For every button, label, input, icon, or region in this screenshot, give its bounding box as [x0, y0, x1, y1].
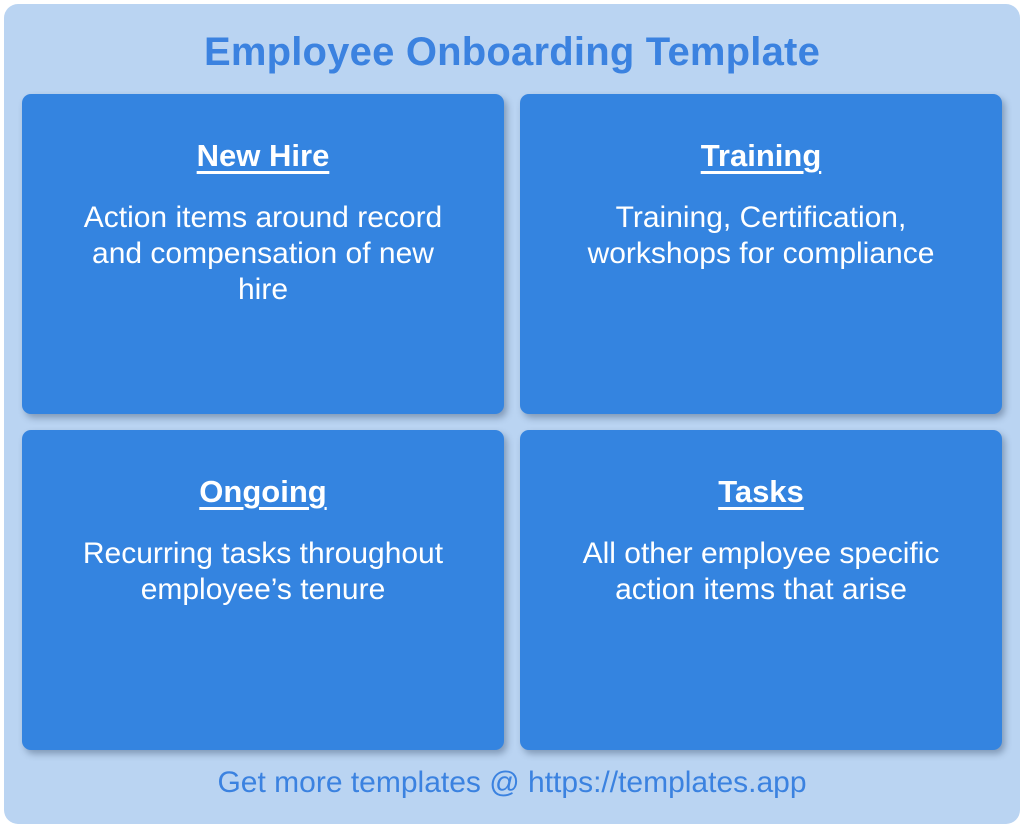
- footer-link[interactable]: Get more templates @ https://templates.a…: [217, 764, 806, 802]
- card-title: Ongoing: [199, 474, 326, 510]
- card-training[interactable]: Training Training, Certification, worksh…: [520, 94, 1002, 414]
- card-new-hire[interactable]: New Hire Action items around record and …: [22, 94, 504, 414]
- card-tasks[interactable]: Tasks All other employee specific action…: [520, 430, 1002, 750]
- page-root: Employee Onboarding Template New Hire Ac…: [0, 0, 1024, 828]
- card-body: Recurring tasks throughout employee’s te…: [63, 536, 463, 608]
- card-body: All other employee specific action items…: [561, 536, 961, 608]
- card-grid: New Hire Action items around record and …: [22, 94, 1002, 750]
- card-body: Action items around record and compensat…: [63, 200, 463, 308]
- card-title: New Hire: [197, 138, 330, 174]
- page-title: Employee Onboarding Template: [204, 26, 820, 78]
- card-body: Training, Certification, workshops for c…: [561, 200, 961, 272]
- template-board: Employee Onboarding Template New Hire Ac…: [4, 4, 1020, 824]
- card-title: Training: [701, 138, 822, 174]
- card-ongoing[interactable]: Ongoing Recurring tasks throughout emplo…: [22, 430, 504, 750]
- card-title: Tasks: [718, 474, 804, 510]
